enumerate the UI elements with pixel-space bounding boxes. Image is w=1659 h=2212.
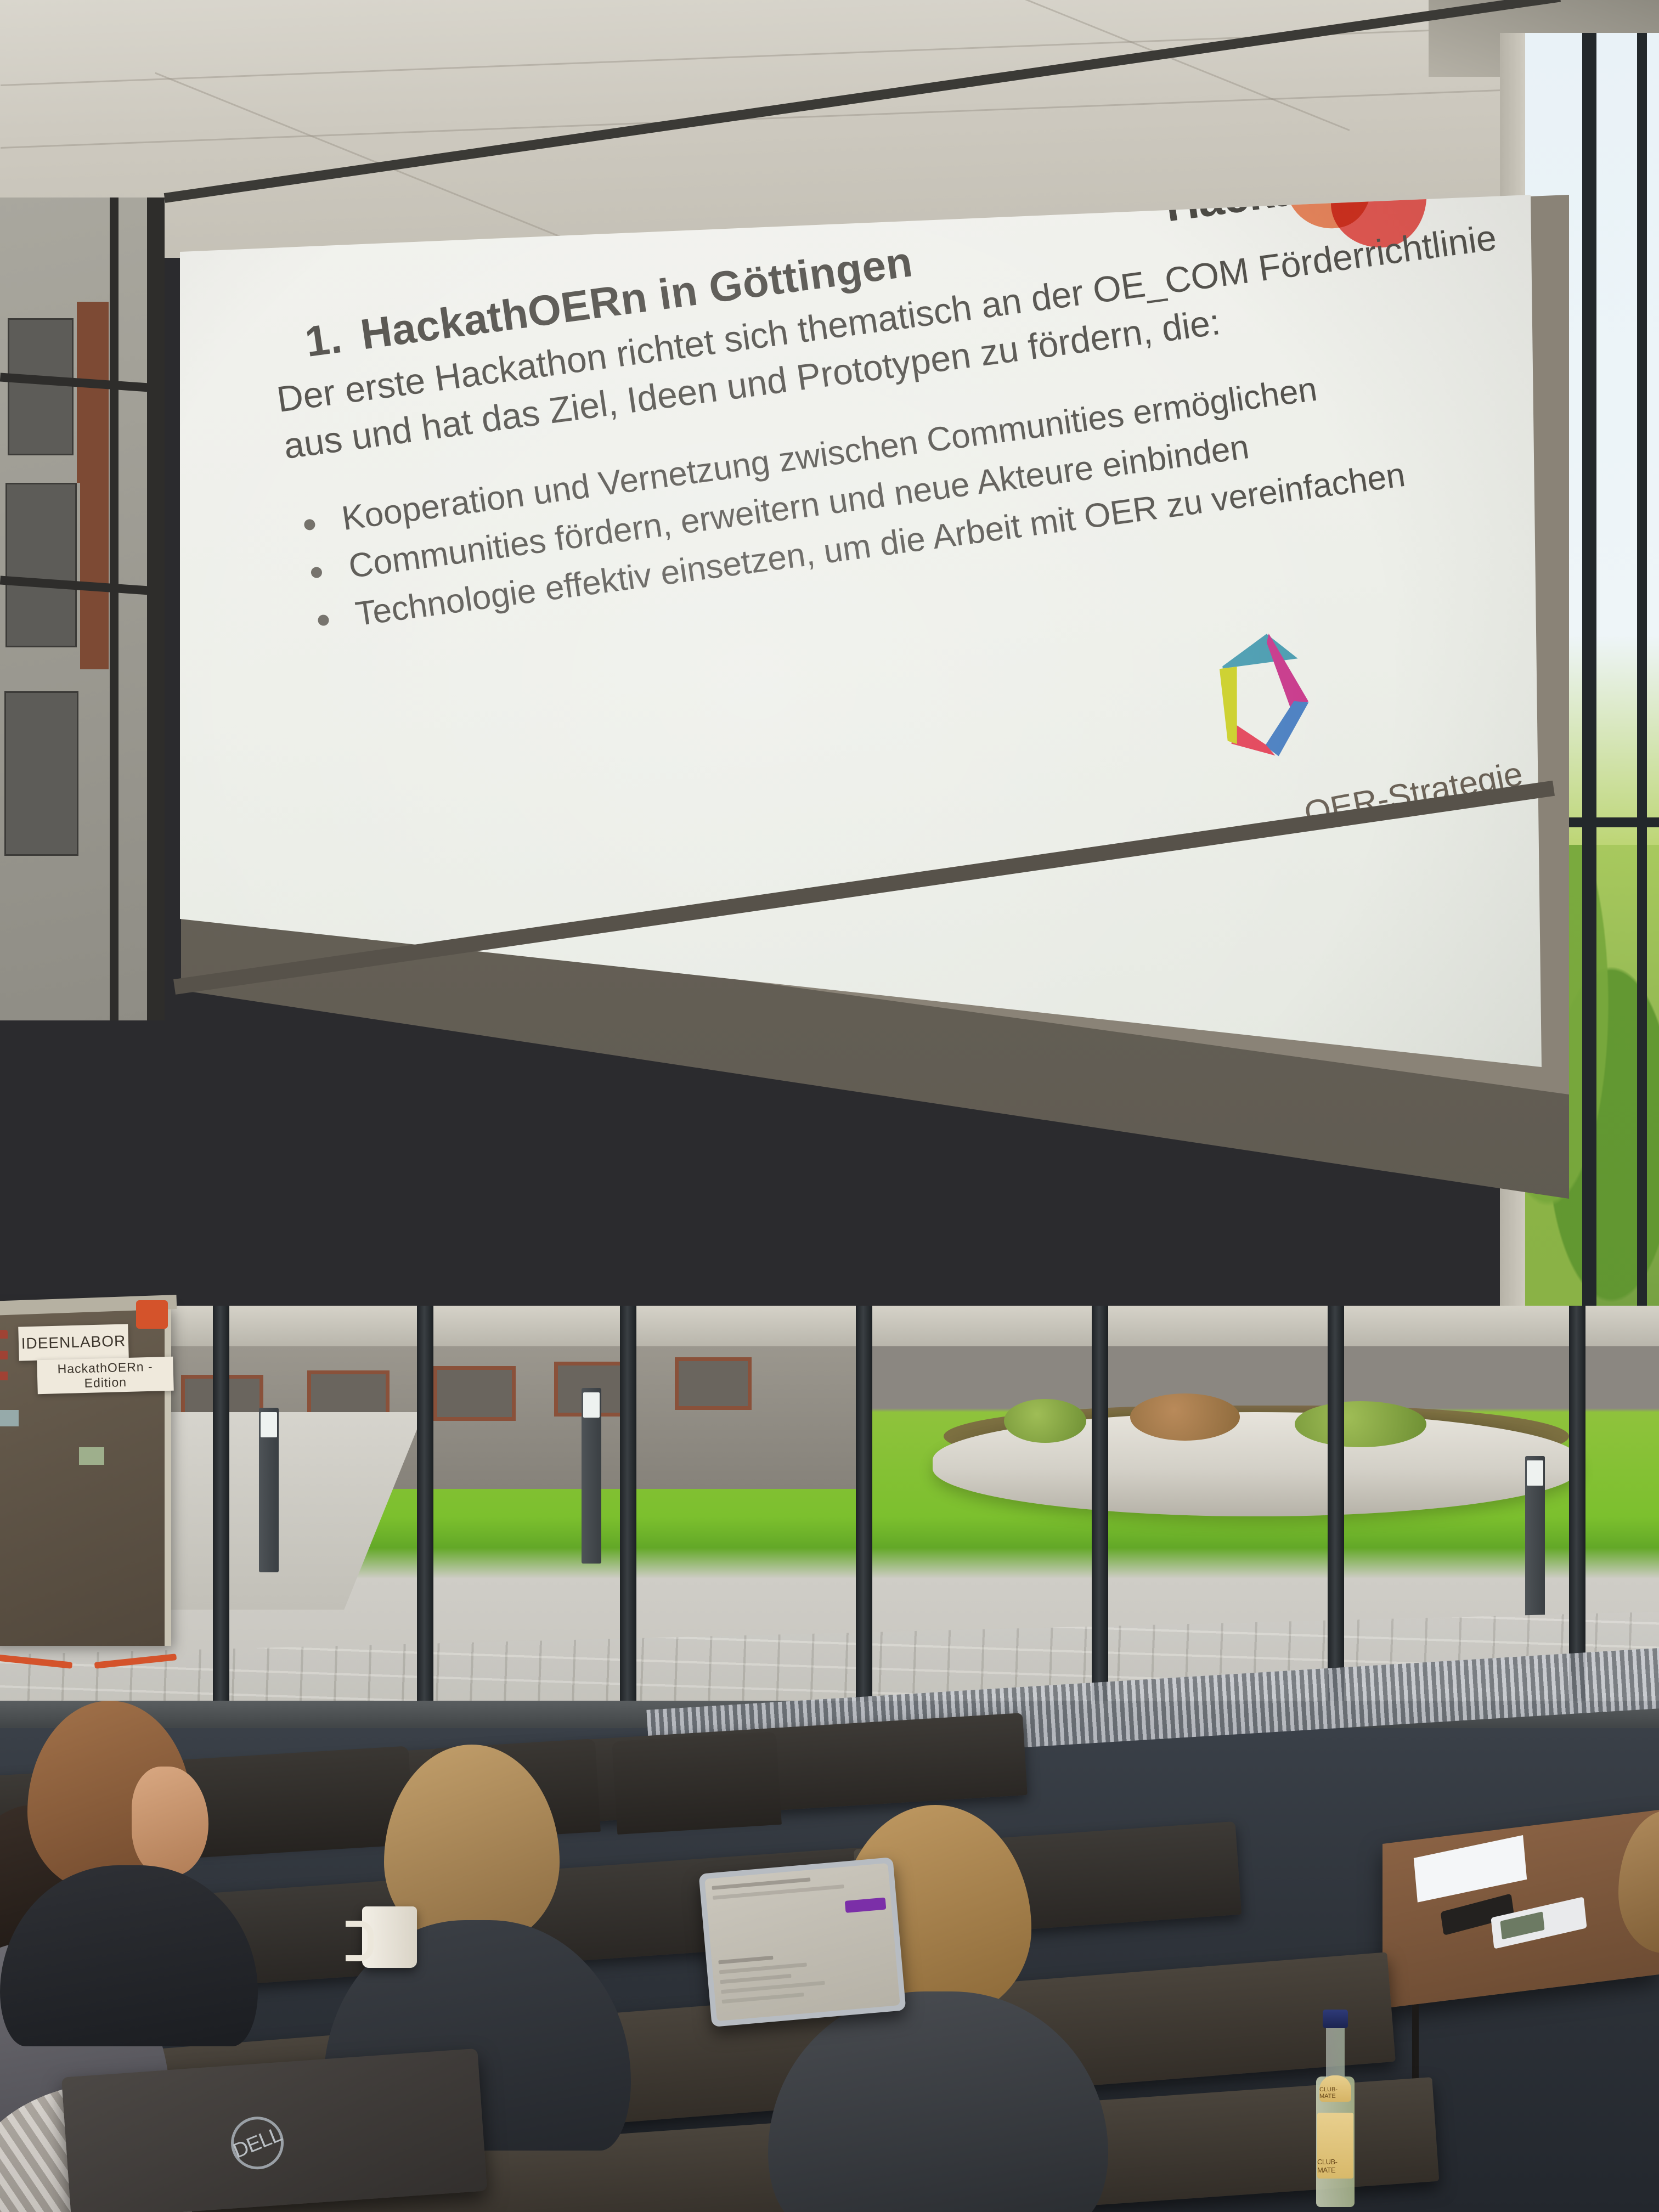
bollard-lamp [259, 1408, 279, 1572]
screen-purple-button[interactable] [845, 1898, 887, 1913]
sign-ideenlabor: IDEENLABOR [18, 1324, 129, 1361]
blob-blue [1311, 195, 1421, 196]
oer-strategie-mark [1193, 597, 1380, 782]
paper-sheet [1414, 1835, 1527, 1903]
screen-surface: HackathOERn 1.HackathOERn in Göttingen D… [165, 195, 1569, 1418]
coffee-mug [362, 1906, 417, 1968]
seat-backrest [178, 1746, 414, 1858]
laptop-closed[interactable]: DELL [61, 2049, 487, 2212]
seat-backrest [612, 1731, 782, 1835]
sign-hackathoern-edition: HackathOERn - Edition [37, 1357, 174, 1394]
presentation-slide: HackathOERn 1.HackathOERn in Göttingen D… [230, 195, 1569, 950]
bottle-label: CLUB-MATE [1317, 2113, 1353, 2179]
slide-heading-number: 1. [302, 313, 345, 366]
pinboard-corner-clamp [136, 1300, 168, 1329]
pinboard: IDEENLABOR HackathOERn - Edition [0, 1306, 171, 1646]
bottle-cap [1323, 2010, 1348, 2028]
laptop-lid [698, 1857, 906, 2027]
left-window [0, 198, 165, 1020]
sticky-note [0, 1410, 19, 1426]
projection-screen: HackathOERn 1.HackathOERn in Göttingen D… [165, 195, 1569, 1418]
pinboard-sticker-column [0, 1330, 8, 1390]
bottle-shoulder-label: CLUB-MATE [1319, 2075, 1351, 2102]
club-mate-bottle: CLUB-MATE CLUB-MATE [1314, 2005, 1357, 2208]
laptop-screen[interactable] [704, 1863, 900, 2021]
laptop-open[interactable] [698, 1857, 906, 2027]
sticky-note [79, 1447, 104, 1465]
lectern-desk [1383, 1810, 1659, 2008]
bollard-lamp [1525, 1456, 1545, 1632]
shard-teal [1218, 630, 1297, 669]
photo-scene: IDEENLABOR HackathOERn - Edition [0, 0, 1659, 2212]
dell-logo: DELL [223, 2109, 292, 2177]
pinboard-legs [0, 1645, 177, 1664]
